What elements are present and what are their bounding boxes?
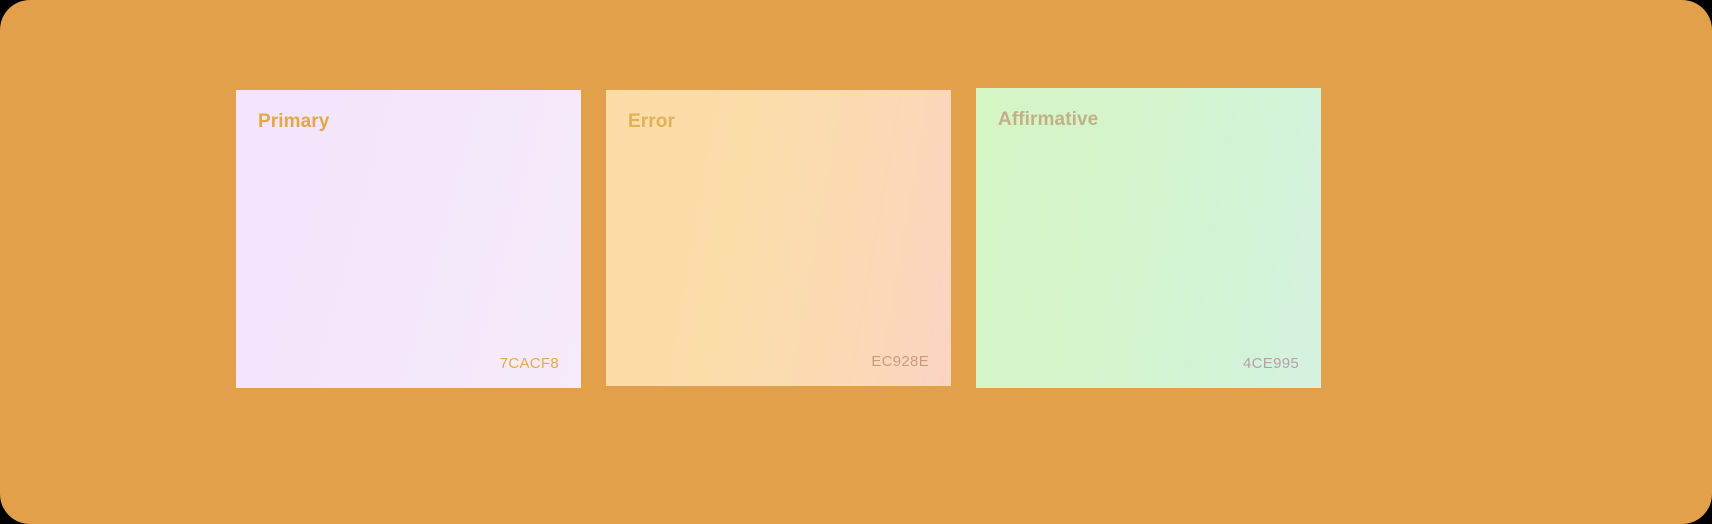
swatch-hex-value: 7CACF8 [500, 356, 559, 373]
swatch-card-primary[interactable]: Primary 7CACF8 [236, 90, 581, 388]
swatch-panel-canvas: Primary 7CACF8 Error EC928E Affirmative … [0, 0, 1712, 524]
swatch-title: Error [628, 112, 929, 133]
swatch-hex-value: 4CE995 [1243, 356, 1299, 373]
swatch-title: Primary [258, 112, 559, 133]
swatch-card-affirmative[interactable]: Affirmative 4CE995 [976, 88, 1321, 388]
swatch-hex-value: EC928E [871, 354, 929, 371]
swatch-title: Affirmative [998, 110, 1299, 131]
swatch-row: Primary 7CACF8 Error EC928E Affirmative … [0, 0, 1712, 524]
swatch-card-error[interactable]: Error EC928E [606, 90, 951, 386]
